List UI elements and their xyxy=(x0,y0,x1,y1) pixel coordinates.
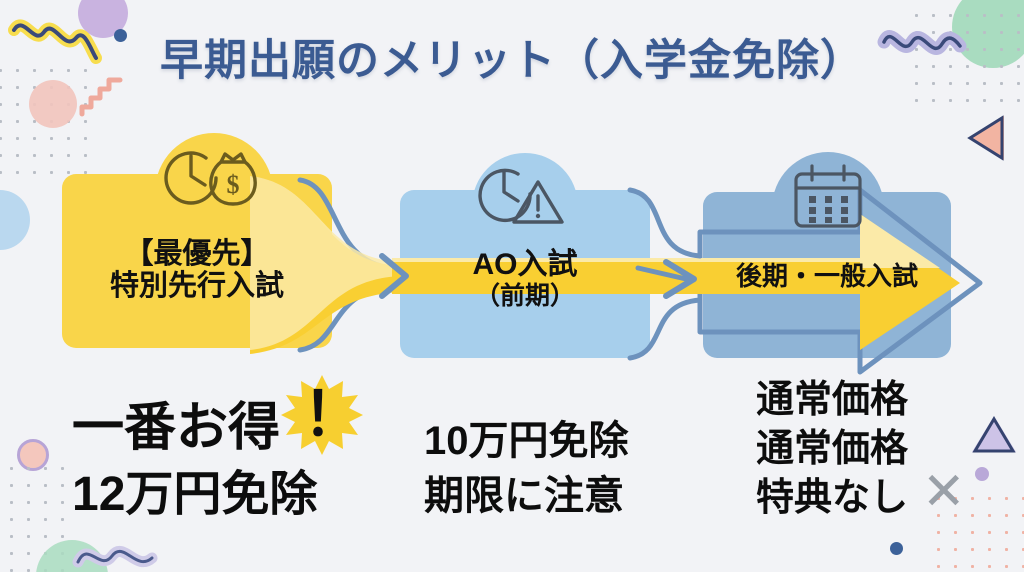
clock-warning-icon xyxy=(474,158,578,232)
step-3-label-line1: 後期・一般入試 xyxy=(703,262,951,291)
step-1-label: 【最優先】 特別先行入試 xyxy=(62,238,332,303)
step-3-label: 後期・一般入試 xyxy=(703,262,951,291)
calendar-icon xyxy=(782,160,874,232)
step-1-label-line2: 特別先行入試 xyxy=(62,270,332,302)
infographic-canvas: 早期出願のメリット（入学金免除） $ 【最優先】 特別先行入試 xyxy=(0,0,1024,572)
clock-money-bag-icon: $ xyxy=(159,140,271,216)
svg-text:$: $ xyxy=(227,170,240,199)
step-2-label-line1: AO入試 xyxy=(400,248,650,282)
step-2-label-line2: （前期） xyxy=(400,282,650,310)
step-1-label-line1: 【最優先】 xyxy=(62,238,332,270)
step-2-label: AO入試 （前期） xyxy=(400,248,650,310)
